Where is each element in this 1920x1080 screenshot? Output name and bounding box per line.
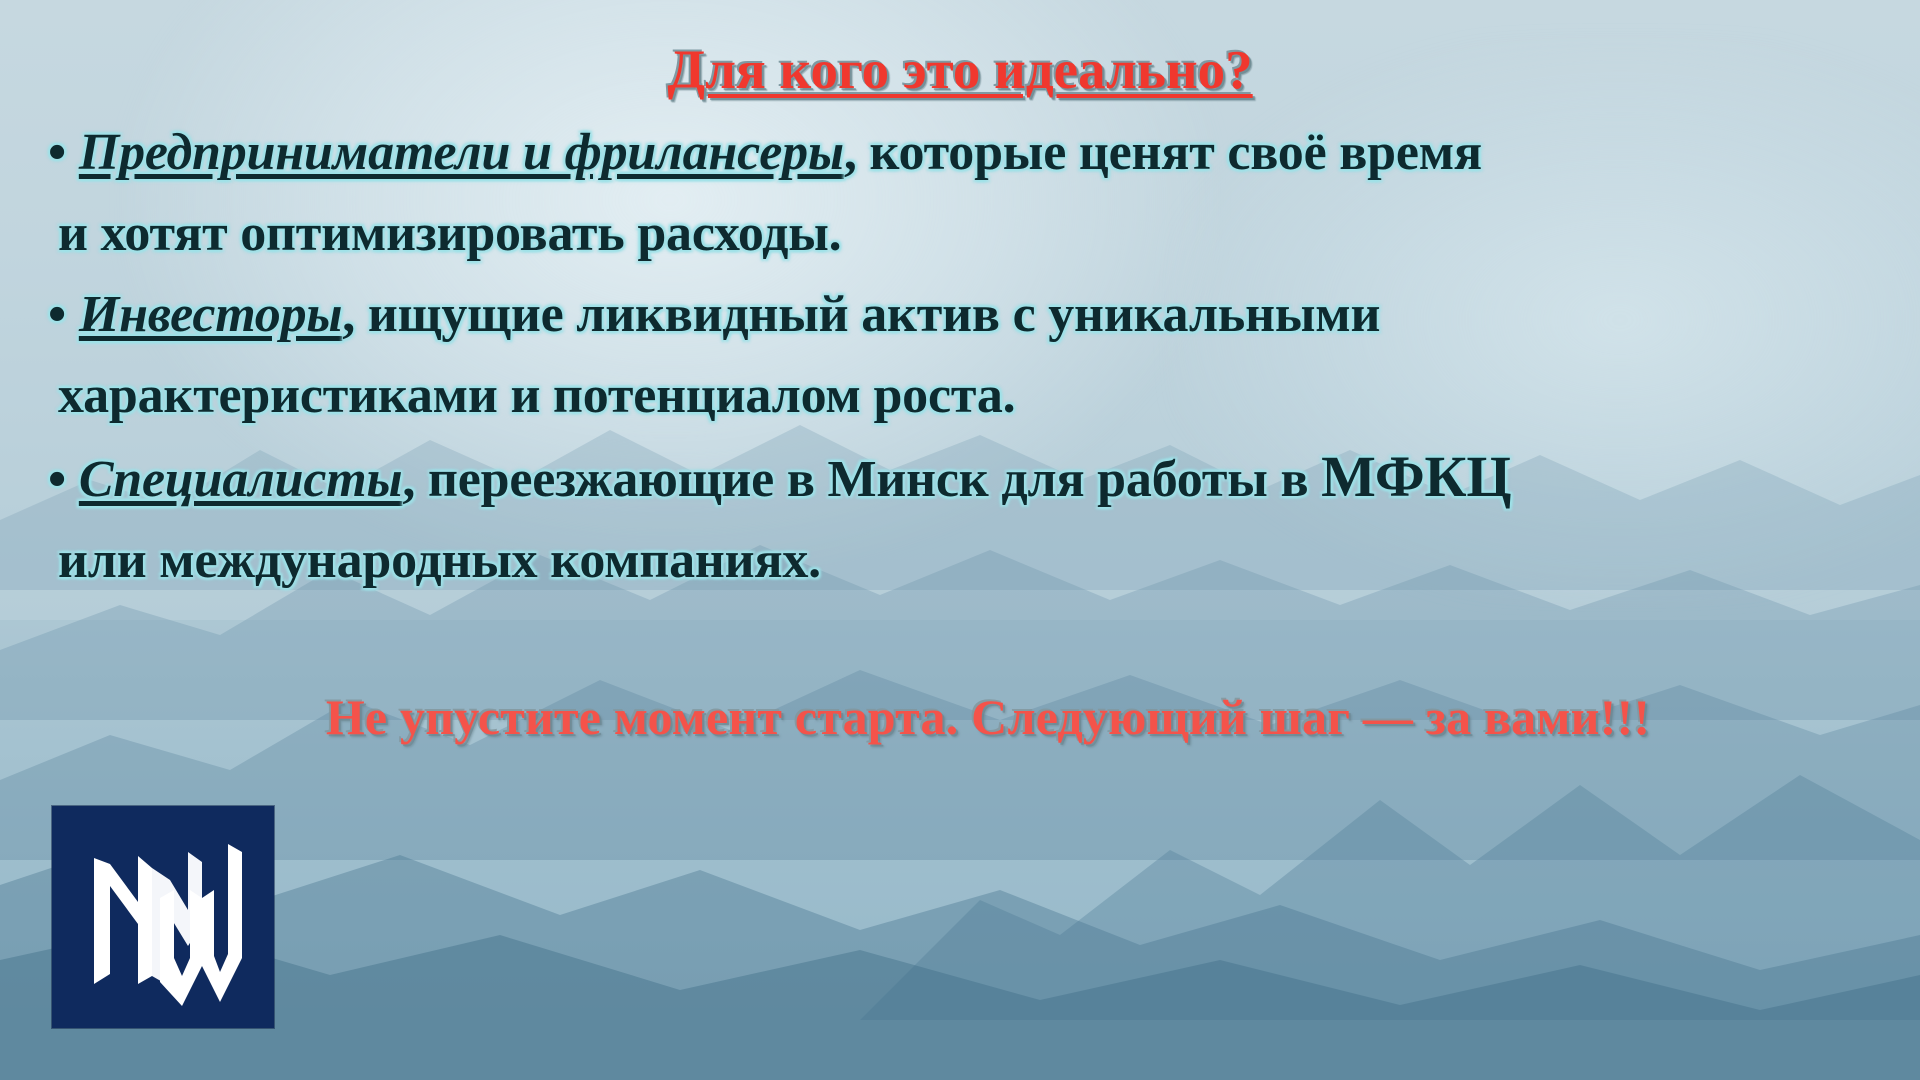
bullet-continuation-text: или международных компаниях. <box>58 532 821 589</box>
list-item-continuation: характеристиками и потенциалом роста. <box>48 355 1898 436</box>
bullet-list: • Предприниматели и фрилансеры, которые … <box>48 112 1898 601</box>
bullet-emphasis-text: Предприниматели и фрилансеры <box>79 124 844 181</box>
bullet-continuation-text: характеристиками и потенциалом роста. <box>58 367 1015 424</box>
bullet-emphasis-text: Специалисты <box>79 451 403 508</box>
bullet-continuation-text: и хотят оптимизировать расходы. <box>58 205 841 262</box>
bullet-marker: • <box>48 124 66 181</box>
mw-monogram-icon <box>52 806 274 1028</box>
mountain-ridge-foreground <box>0 840 1920 1080</box>
bullet-rest-text: , переезжающие в Минск для работы в <box>402 451 1321 508</box>
bullet-marker: • <box>48 286 66 343</box>
bullet-rest-text: , которые ценят своё время <box>844 124 1482 181</box>
list-item-continuation: или международных компаниях. <box>48 520 1898 601</box>
page-title: Для кого это идеально? <box>667 38 1252 101</box>
bullet-acronym-text: МФКЦ <box>1321 444 1511 509</box>
bullet-marker: • <box>48 451 66 508</box>
bullet-rest-text: , ищущие ликвидный актив с уникальными <box>342 286 1380 343</box>
list-item: • Инвесторы, ищущие ликвидный актив с ун… <box>48 274 1898 355</box>
call-to-action-text: Не упустите момент старта. Следующий шаг… <box>326 689 1650 745</box>
bullet-emphasis-text: Инвесторы <box>79 286 342 343</box>
list-item: • Специалисты, переезжающие в Минск для … <box>48 436 1898 520</box>
list-item: • Предприниматели и фрилансеры, которые … <box>48 112 1898 193</box>
call-to-action: Не упустите момент старта. Следующий шаг… <box>0 688 1920 746</box>
brand-logo[interactable] <box>52 806 274 1028</box>
list-item-continuation: и хотят оптимизировать расходы. <box>48 193 1898 274</box>
slide-canvas: Для кого это идеально? • Предприниматели… <box>0 0 1920 1080</box>
title-block: Для кого это идеально? <box>0 38 1920 101</box>
